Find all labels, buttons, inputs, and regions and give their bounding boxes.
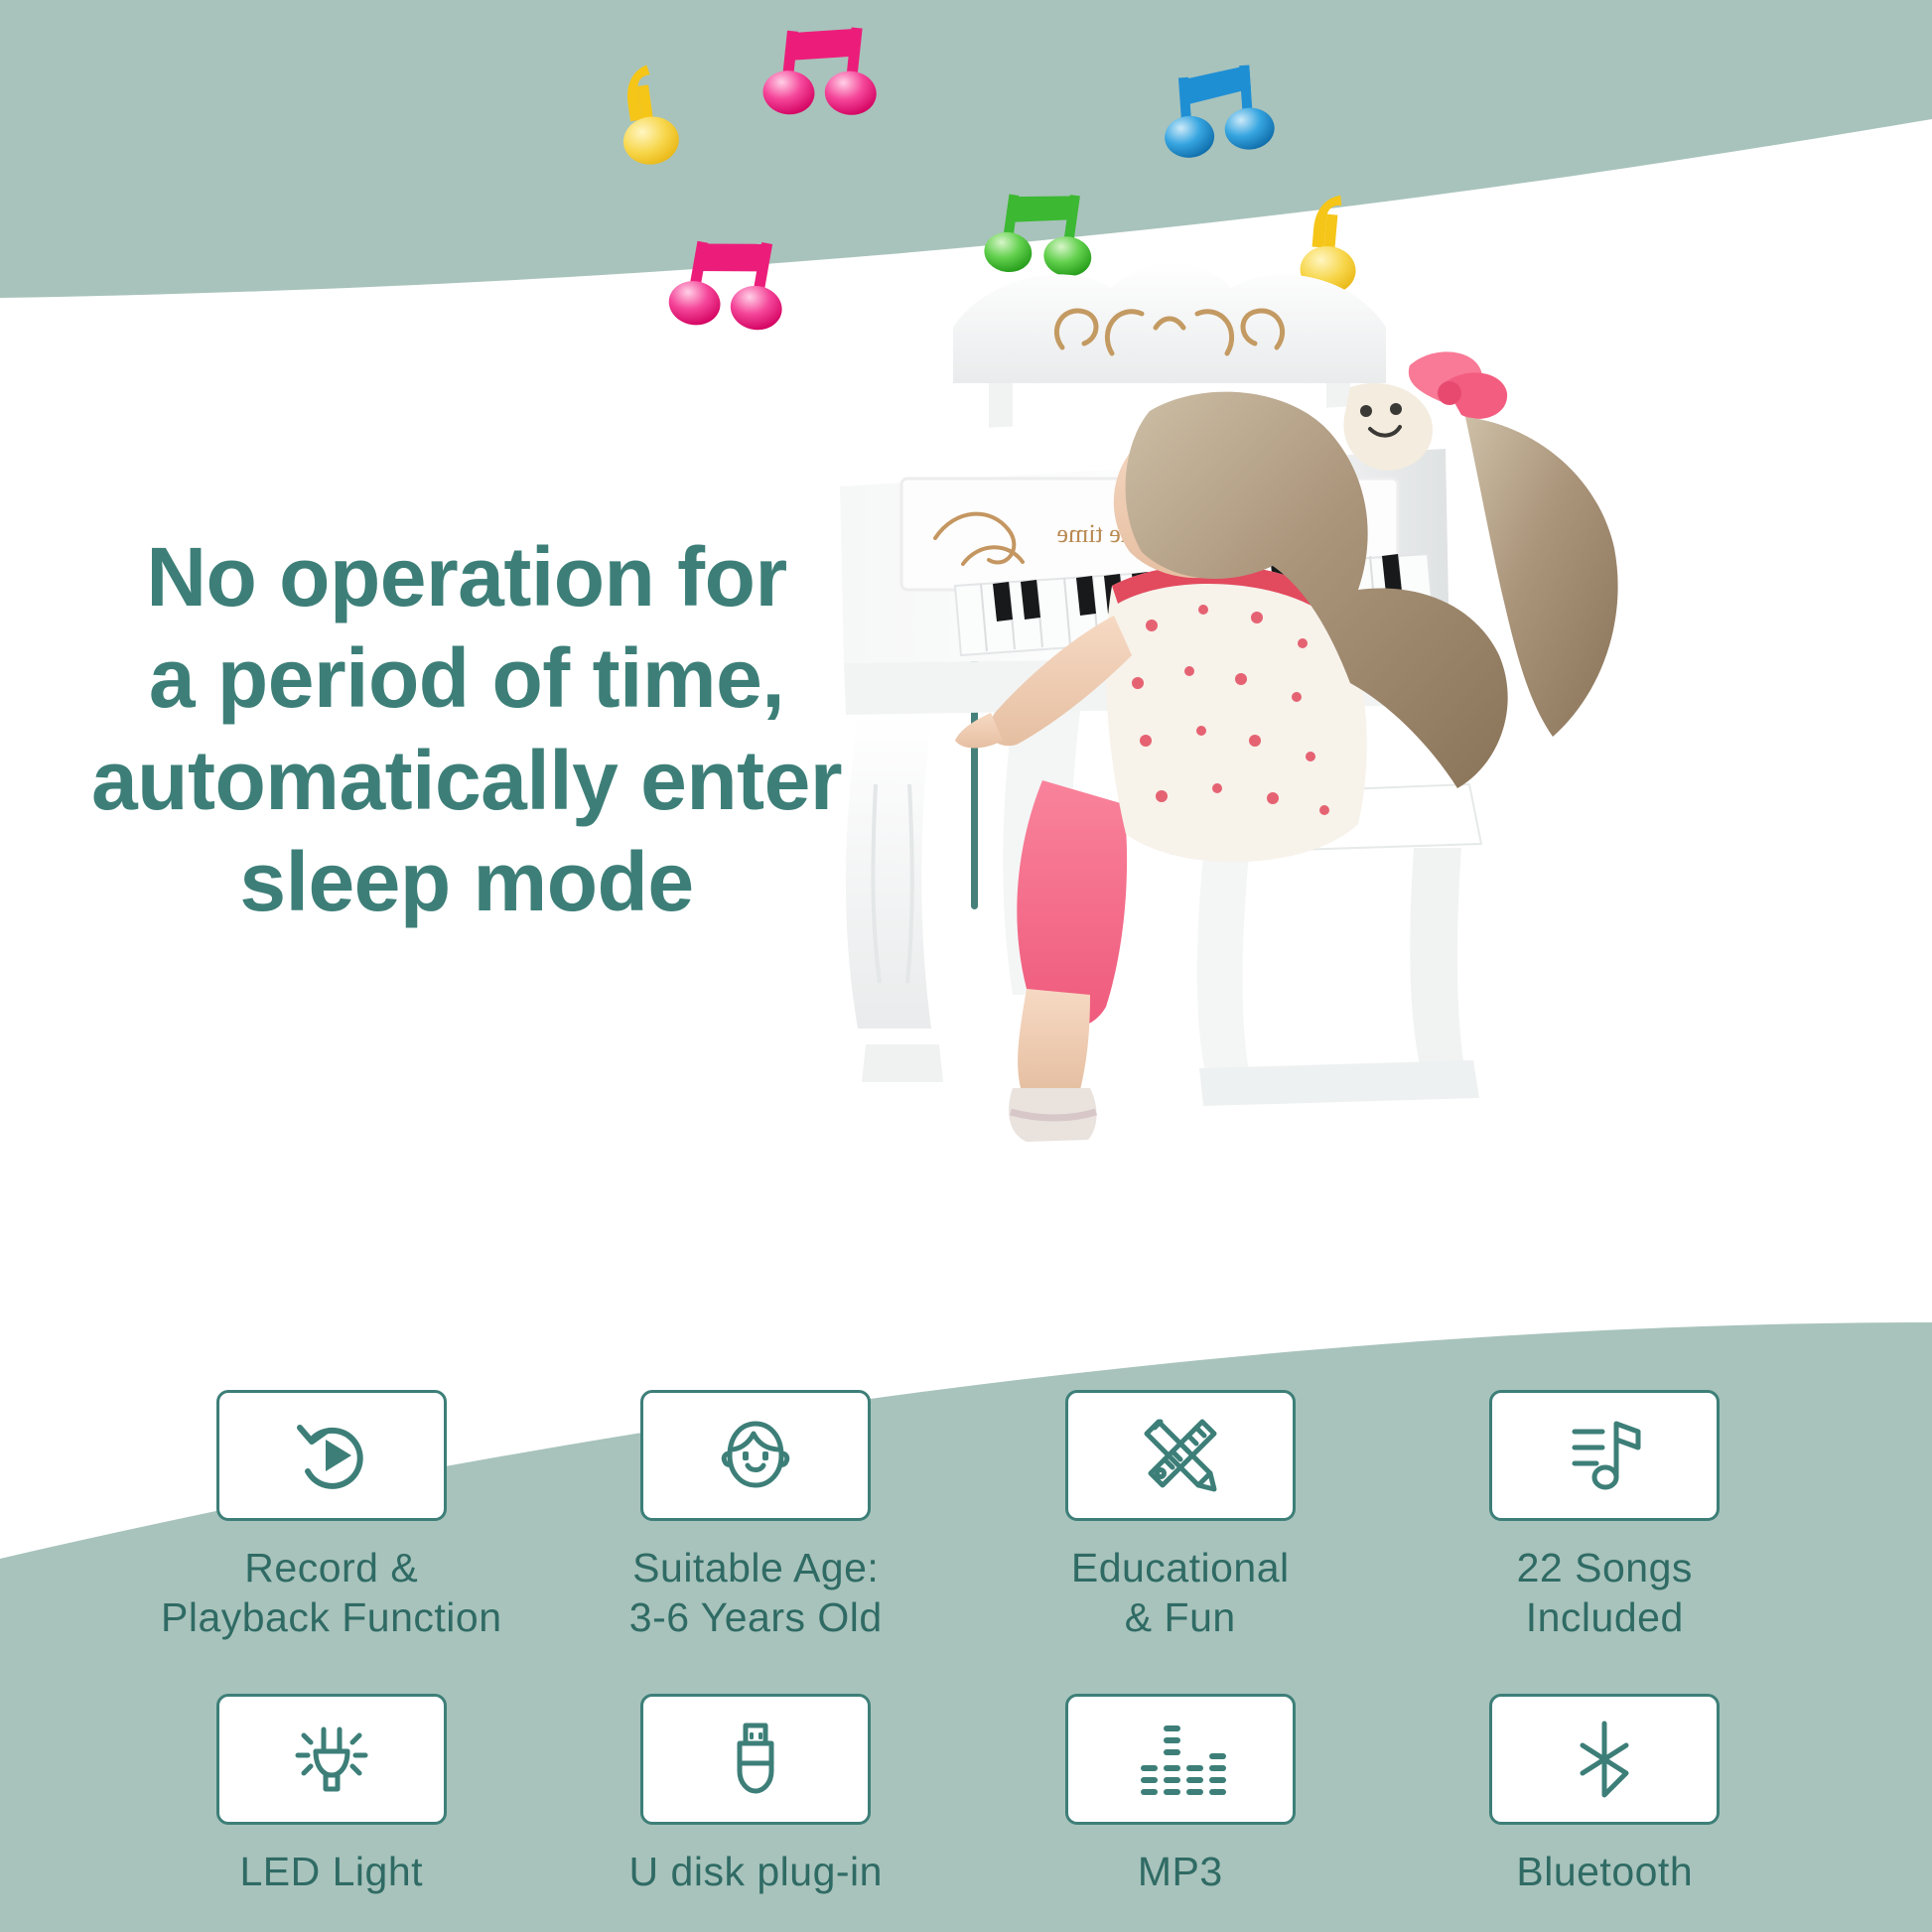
feature-label: Bluetooth [1516, 1847, 1693, 1896]
feature-songs-included[interactable]: 22 Songs Included [1393, 1390, 1818, 1642]
record-playback-icon [286, 1410, 377, 1501]
child-face-icon [710, 1410, 801, 1501]
music-note-list-icon [1559, 1410, 1650, 1501]
music-note-pink-beamed [755, 12, 878, 146]
feature-record-playback[interactable]: Record & Playback Function [119, 1390, 544, 1642]
feature-label: 22 Songs Included [1517, 1543, 1693, 1642]
feature-label: U disk plug-in [629, 1847, 883, 1896]
equalizer-icon [1133, 1714, 1228, 1805]
music-note-yellow-single [597, 53, 697, 175]
music-note-pink-beamed-2 [657, 221, 788, 362]
headline-line-1: No operation for [60, 526, 874, 627]
ruler-pencil-icon [1135, 1410, 1226, 1501]
feature-label: Educational & Fun [1071, 1543, 1290, 1642]
feature-card [216, 1390, 447, 1521]
feature-educational-fun[interactable]: Educational & Fun [968, 1390, 1393, 1642]
product-feature-banner: No operation for a period of time, autom… [0, 0, 1932, 1932]
feature-suitable-age[interactable]: Suitable Age: 3-6 Years Old [544, 1390, 969, 1642]
music-note-blue-beamed [1158, 58, 1273, 182]
feature-card [640, 1694, 871, 1825]
feature-card [216, 1694, 447, 1825]
led-plug-icon [286, 1714, 377, 1805]
headline-line-2: a period of time, [60, 627, 874, 729]
feature-label: Record & Playback Function [161, 1543, 502, 1642]
bluetooth-icon [1559, 1714, 1650, 1805]
feature-card [1489, 1694, 1720, 1825]
feature-grid: Record & Playback Function Suitable A [119, 1390, 1817, 1896]
headline: No operation for a period of time, autom… [60, 526, 874, 933]
feature-card [1489, 1390, 1720, 1521]
feature-label: LED Light [239, 1847, 423, 1896]
feature-label: Suitable Age: 3-6 Years Old [629, 1543, 883, 1642]
feature-led-light[interactable]: LED Light [119, 1694, 544, 1896]
headline-line-3: automatically enter [60, 730, 874, 831]
feature-mp3[interactable]: MP3 [968, 1694, 1393, 1896]
feature-card [1065, 1694, 1296, 1825]
feature-usb-plugin[interactable]: U disk plug-in [544, 1694, 969, 1896]
feature-label: MP3 [1138, 1847, 1223, 1896]
headline-line-4: sleep mode [60, 831, 874, 932]
feature-card [640, 1390, 871, 1521]
product-photo: happy all the time [814, 189, 1932, 1162]
feature-card [1065, 1390, 1296, 1521]
feature-bluetooth[interactable]: Bluetooth [1393, 1694, 1818, 1896]
usb-drive-icon [710, 1714, 801, 1805]
